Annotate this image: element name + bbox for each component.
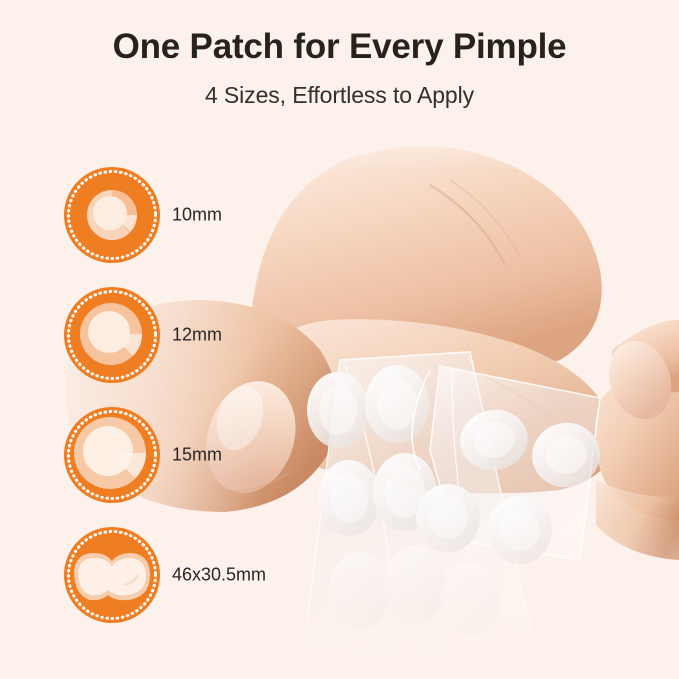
size-label-12mm: 12mm (172, 325, 222, 346)
size-item-15mm: 15mm (62, 405, 342, 505)
patch-graphic-15mm (74, 417, 146, 489)
product-infographic: One Patch for Every Pimple 4 Sizes, Effo… (0, 0, 679, 679)
size-item-12mm: 12mm (62, 285, 342, 385)
size-list: 10mm 12mm (0, 0, 340, 679)
size-label-15mm: 15mm (172, 445, 222, 466)
patch-graphic-12mm (80, 303, 142, 365)
patch-graphic-10mm (87, 190, 137, 240)
size-badge-12mm (62, 285, 162, 385)
size-item-10mm: 10mm (62, 165, 342, 265)
size-label-46x30: 46x30.5mm (172, 565, 266, 586)
size-badge-46x30 (62, 525, 162, 625)
size-badge-10mm (62, 165, 162, 265)
size-badge-15mm (62, 405, 162, 505)
size-item-46x30: 46x30.5mm (62, 525, 342, 625)
size-label-10mm: 10mm (172, 205, 222, 226)
